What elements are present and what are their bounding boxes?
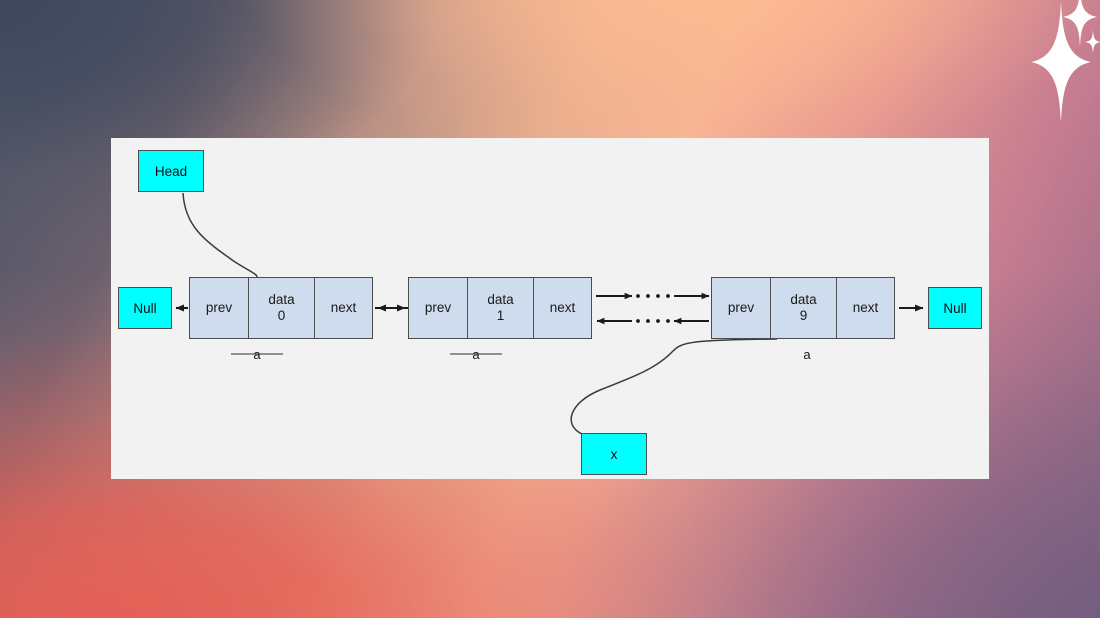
node-1-data-cell[interactable]: data 1 [467,278,533,338]
node-1-data-label: data 1 [487,292,513,324]
null-right-label: Null [943,301,966,316]
node-9-annotation-text: a [803,347,810,362]
node-9-annotation: a [797,347,817,362]
node-0-annotation-text: a [253,347,260,362]
node-9-data-cell[interactable]: data 9 [770,278,836,338]
null-left-label: Null [133,301,156,316]
node-0-data-label: data 0 [268,292,294,324]
node-1-next-cell[interactable]: next [533,278,591,338]
node-0-data-cell[interactable]: data 0 [248,278,314,338]
node-9-next-cell[interactable]: next [836,278,894,338]
node-0-prev-label: prev [206,300,232,316]
connector-x-to-node9 [571,339,777,434]
x-pointer-label: x [611,447,618,462]
node-0-annotation: a [247,347,267,362]
node-0-next-cell[interactable]: next [314,278,372,338]
connector-head-to-node0 [183,193,257,277]
null-terminal-right[interactable]: Null [928,287,982,329]
ellipsis-top [636,294,670,298]
x-pointer-box[interactable]: x [581,433,647,475]
null-terminal-left[interactable]: Null [118,287,172,329]
node-9-prev-label: prev [728,300,754,316]
diagram-panel: Head x Null Null prev data 0 next a [111,138,989,479]
node-1-annotation: a [466,347,486,362]
head-pointer-box[interactable]: Head [138,150,204,192]
node-1[interactable]: prev data 1 next [408,277,592,339]
node-1-annotation-text: a [472,347,479,362]
node-0[interactable]: prev data 0 next [189,277,373,339]
node-1-prev-cell[interactable]: prev [409,278,467,338]
node-0-prev-cell[interactable]: prev [190,278,248,338]
node-9-prev-cell[interactable]: prev [712,278,770,338]
node-9-data-label: data 9 [790,292,816,324]
ellipsis-bottom [636,319,670,323]
node-9-next-label: next [853,300,879,316]
node-1-next-label: next [550,300,576,316]
screenshot-stage: Head x Null Null prev data 0 next a [0,0,1100,618]
node-1-prev-label: prev [425,300,451,316]
head-pointer-label: Head [155,164,187,179]
node-9[interactable]: prev data 9 next [711,277,895,339]
node-0-next-label: next [331,300,357,316]
